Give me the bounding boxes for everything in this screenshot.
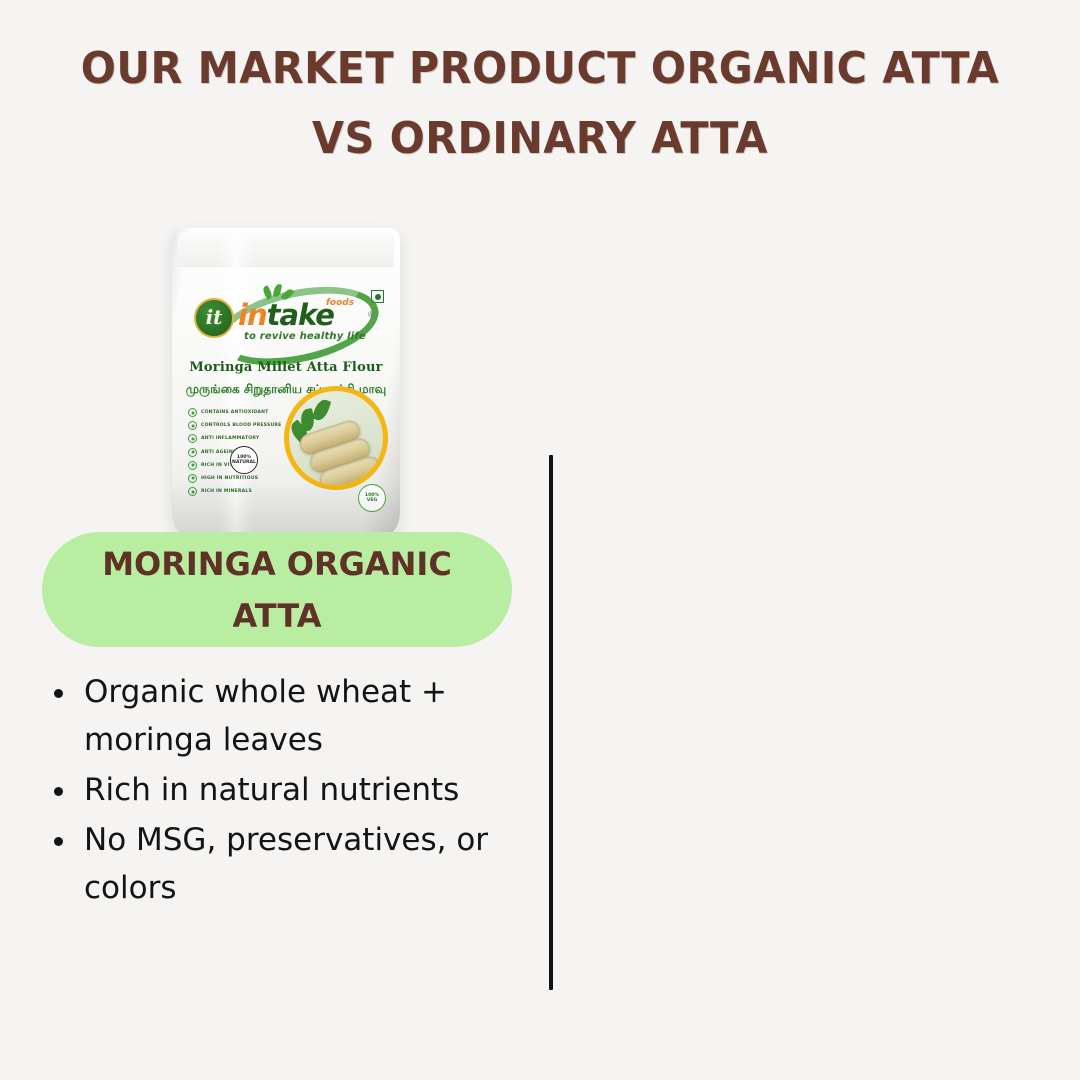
brand-emblem: it bbox=[194, 298, 234, 338]
brand-logo: it intake foods ® to revive healthy life bbox=[190, 286, 380, 354]
pouch-top-seal bbox=[178, 232, 394, 267]
badge-left-label-line2: ATTA bbox=[233, 597, 322, 635]
package-claim-item: CONTAINS ANTIOXIDANT bbox=[188, 408, 300, 417]
pouch-body: it intake foods ® to revive healthy life… bbox=[172, 228, 400, 538]
natural-seal-badge: 100% NATURAL bbox=[230, 446, 258, 474]
package-product-name: Moringa Millet Atta Flour bbox=[172, 360, 400, 375]
list-item: Rich in natural nutrients bbox=[46, 766, 536, 814]
registered-trademark-icon: ® bbox=[368, 310, 374, 319]
badge-left-label: MORINGA ORGANIC ATTA bbox=[102, 538, 452, 642]
list-item: Organic whole wheat + moringa leaves bbox=[46, 668, 536, 764]
check-circle-icon bbox=[188, 421, 197, 430]
brand-it-text: it bbox=[196, 307, 232, 327]
left-feature-list: Organic whole wheat + moringa leaves Ric… bbox=[46, 668, 536, 914]
brand-in-text: in bbox=[238, 298, 267, 332]
check-circle-icon bbox=[188, 448, 197, 457]
check-circle-icon bbox=[188, 408, 197, 417]
check-circle-icon bbox=[188, 461, 197, 470]
list-item: No MSG, preservatives, or colors bbox=[46, 816, 536, 912]
package-claim-label: CONTROLS BLOOD PRESSURE bbox=[201, 423, 281, 428]
pouch-bottom-shadow bbox=[172, 480, 400, 538]
brand-wordmark: intake bbox=[238, 300, 334, 330]
badge-moringa-organic-atta: MORINGA ORGANIC ATTA bbox=[42, 532, 512, 647]
product-package-image: it intake foods ® to revive healthy life… bbox=[172, 228, 400, 538]
herb-leaf-icon bbox=[312, 397, 332, 422]
package-claim-item: CONTROLS BLOOD PRESSURE bbox=[188, 421, 300, 430]
package-food-photo bbox=[284, 386, 388, 490]
vertical-divider bbox=[549, 455, 553, 990]
check-circle-icon bbox=[188, 434, 197, 443]
title-line-2: VS ORDINARY ATTA bbox=[32, 104, 1047, 174]
brand-tagline: to revive healthy life bbox=[244, 331, 366, 342]
brand-take-text: take bbox=[267, 298, 334, 332]
brand-foods-text: foods bbox=[326, 298, 354, 308]
package-claim-label: ANTI INFLAMMATORY bbox=[201, 436, 259, 441]
badge-left-label-line1: MORINGA ORGANIC bbox=[102, 545, 452, 583]
package-claim-label: CONTAINS ANTIOXIDANT bbox=[201, 410, 269, 415]
page-title: OUR MARKET PRODUCT ORGANIC ATTA VS ORDIN… bbox=[0, 34, 1080, 174]
title-line-1: OUR MARKET PRODUCT ORGANIC ATTA bbox=[32, 34, 1047, 104]
